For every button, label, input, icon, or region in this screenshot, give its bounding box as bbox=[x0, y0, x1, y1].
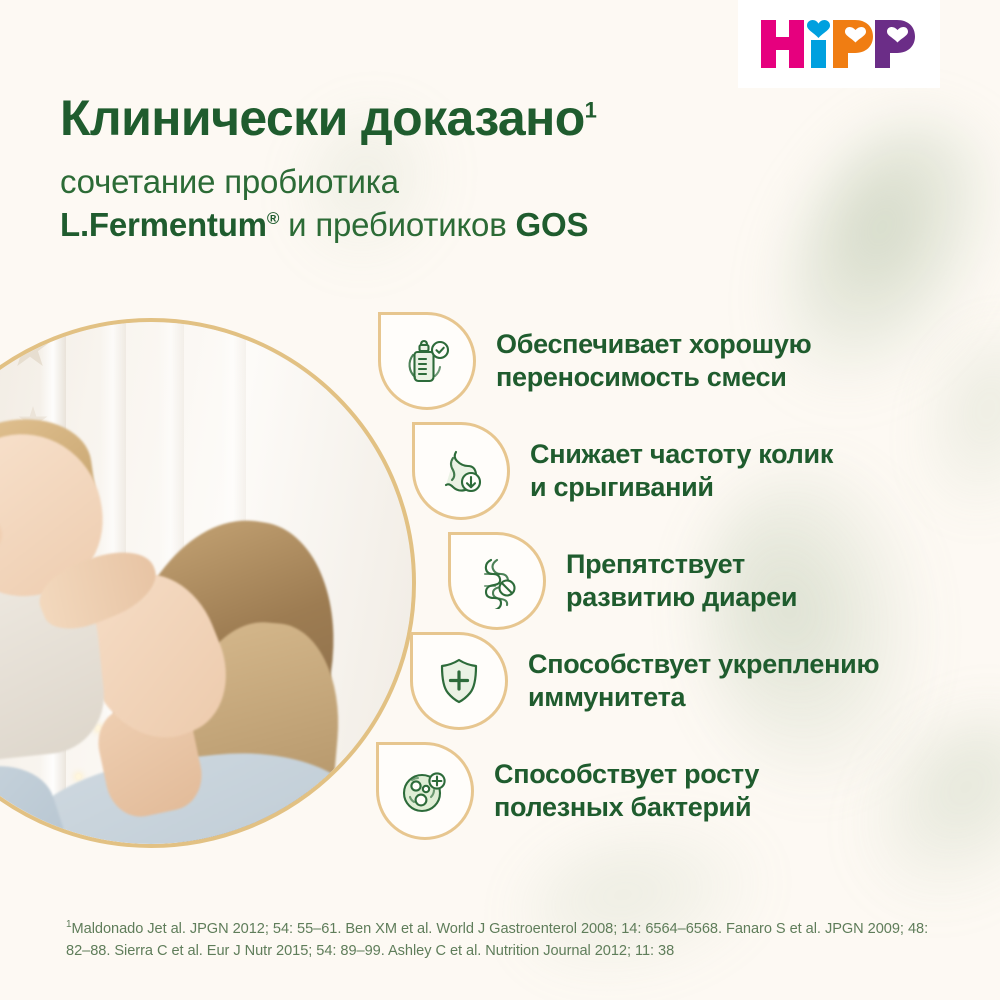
benefit-label: Способствует росту полезных бактерий bbox=[494, 758, 759, 824]
shield-plus-icon bbox=[431, 653, 487, 709]
intestine-blocked-icon bbox=[469, 553, 525, 609]
benefit-badge bbox=[410, 632, 508, 730]
bacteria-plus-icon bbox=[397, 763, 453, 819]
benefit-label: Препятствует развитию диареи bbox=[566, 548, 797, 614]
stomach-down-arrow-icon bbox=[433, 443, 489, 499]
benefit-item: Препятствует развитию диареи bbox=[448, 532, 797, 630]
baby-bottle-check-icon bbox=[399, 333, 455, 389]
footnote-text: Maldonado Jet al. JPGN 2012; 54: 55–61. … bbox=[66, 921, 928, 959]
benefits-list: Обеспечивает хорошую переносимость смеси… bbox=[0, 0, 1000, 1000]
benefit-label: Снижает частоту колик и срыгиваний bbox=[530, 438, 833, 504]
promo-poster: Клинически доказано1 сочетание пробиотик… bbox=[0, 0, 1000, 1000]
benefit-item: Способствует росту полезных бактерий bbox=[376, 742, 759, 840]
benefit-badge bbox=[378, 312, 476, 410]
benefit-badge bbox=[448, 532, 546, 630]
benefit-badge bbox=[412, 422, 510, 520]
benefit-item: Обеспечивает хорошую переносимость смеси bbox=[378, 312, 811, 410]
benefit-item: Снижает частоту колик и срыгиваний bbox=[412, 422, 833, 520]
footnote-citation: 1Maldonado Jet al. JPGN 2012; 54: 55–61.… bbox=[66, 917, 938, 962]
benefit-badge bbox=[376, 742, 474, 840]
benefit-label: Способствует укреплению иммунитета bbox=[528, 648, 879, 714]
benefit-label: Обеспечивает хорошую переносимость смеси bbox=[496, 328, 811, 394]
benefit-item: Способствует укреплению иммунитета bbox=[410, 632, 879, 730]
